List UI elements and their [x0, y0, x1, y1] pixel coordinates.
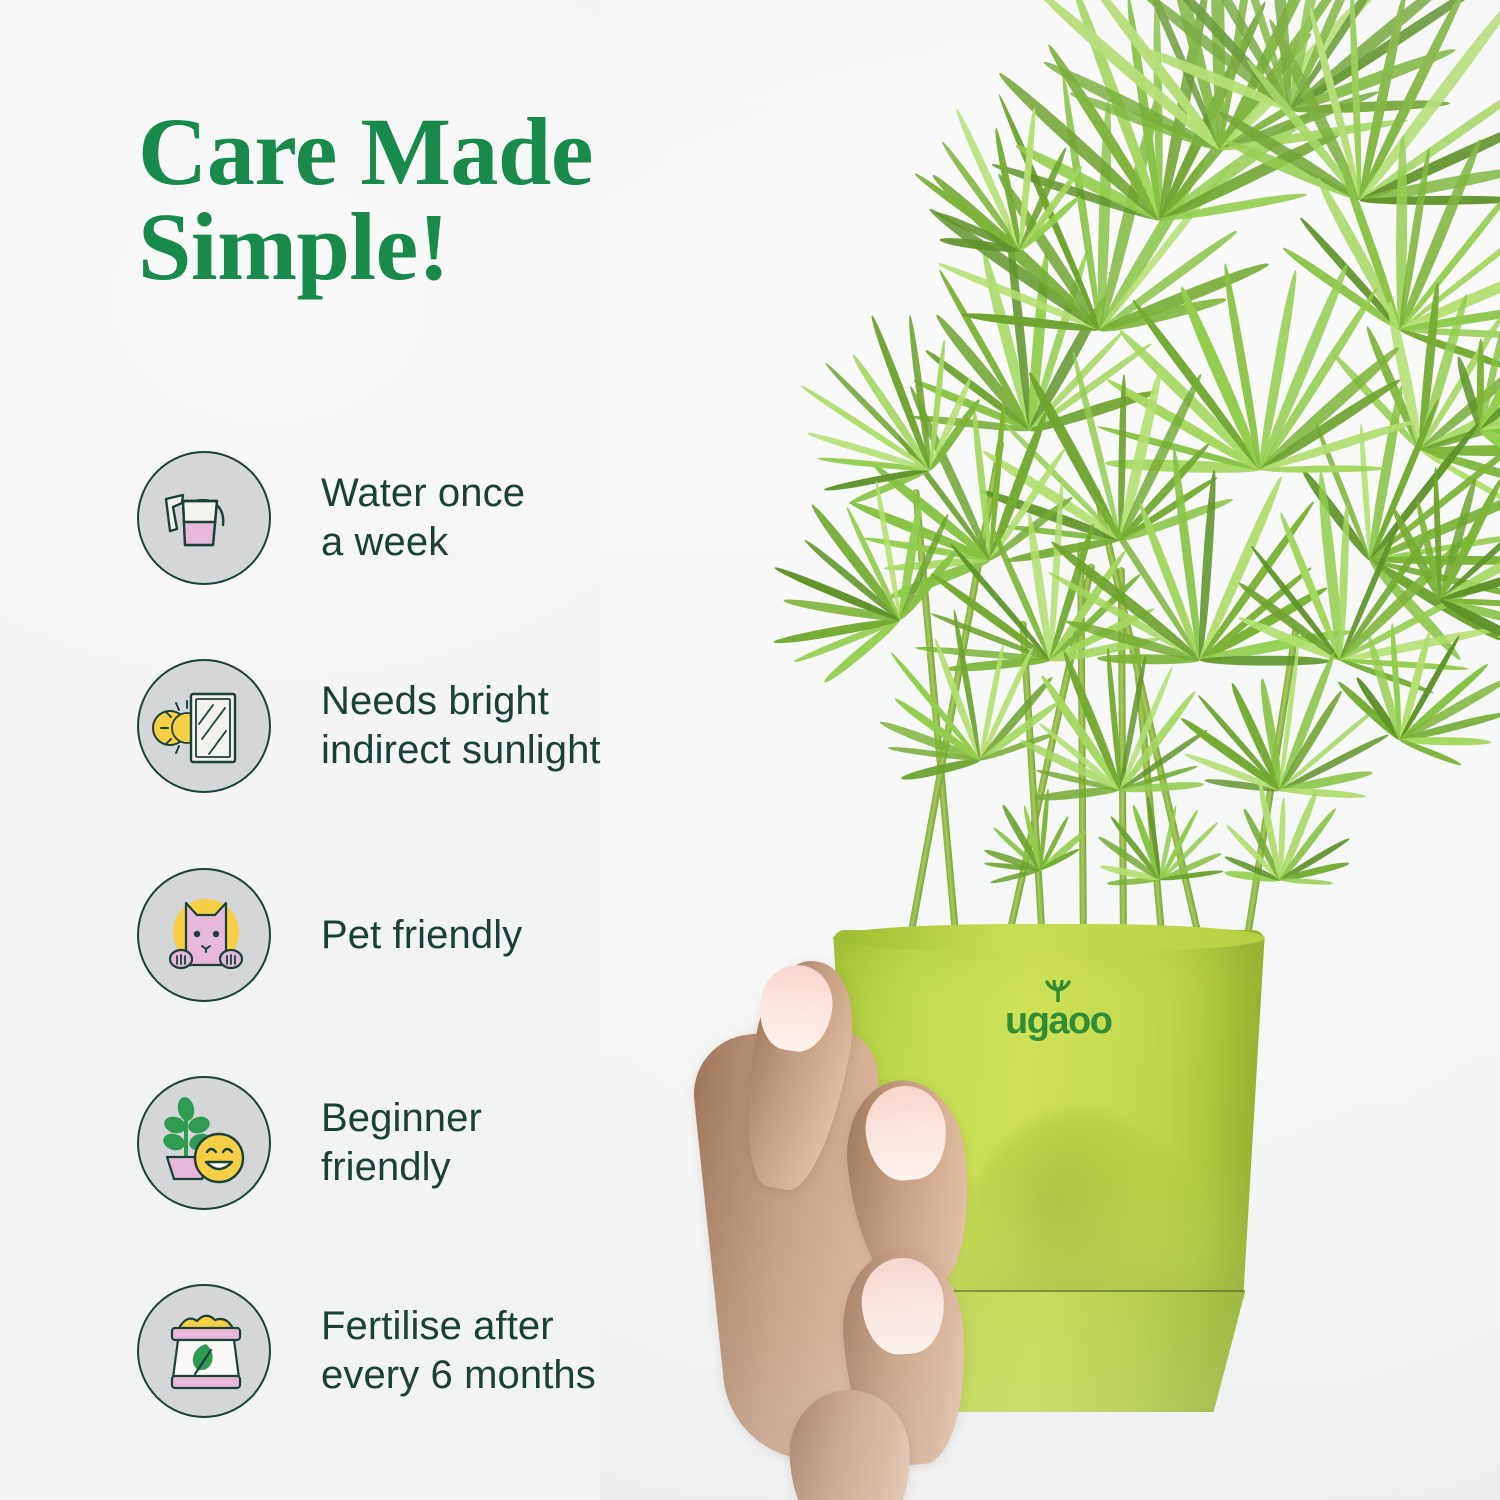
care-item-label: Pet friendly [321, 911, 522, 960]
palm-leaflet [1280, 786, 1367, 800]
palm-leaflet [1360, 195, 1500, 204]
care-item-label: Fertilise after every 6 months [321, 1302, 596, 1400]
care-instructions-list: Water once a week Needs bright indirect … [0, 0, 700, 1500]
care-item-window-sunlight: Needs bright indirect sunlight [137, 659, 601, 793]
care-item-watering-can: Water once a week [137, 451, 525, 585]
product-photo: ugaoo [600, 0, 1500, 1500]
parlor-palm-plant [600, 0, 1500, 1000]
palm-leaflet [1280, 877, 1333, 886]
care-item-cat-pet-friendly: Pet friendly [137, 868, 522, 1002]
watering-can-icon [137, 451, 271, 585]
window-sunlight-icon [137, 659, 271, 793]
potted-plant-smiley-icon [137, 1076, 271, 1210]
care-item-label: Beginner friendly [321, 1094, 482, 1192]
fertiliser-bag-icon [137, 1284, 271, 1418]
care-item-fertiliser-bag: Fertilise after every 6 months [137, 1284, 596, 1418]
palm-leaflet [1200, 655, 1330, 666]
ugaoo-logo-text: ugaoo [1005, 1002, 1111, 1040]
care-item-potted-plant-smiley: Beginner friendly [137, 1076, 482, 1210]
cat-pet-friendly-icon [137, 868, 271, 1002]
care-made-simple-infographic: ugaoo Care Made Simple! Water once a wee… [0, 0, 1500, 1500]
pot-rim [833, 924, 1265, 952]
plant-stem [1240, 626, 1300, 962]
care-item-label: Water once a week [321, 469, 525, 567]
care-item-label: Needs bright indirect sunlight [321, 677, 601, 775]
ugaoo-logo: ugaoo [1005, 980, 1111, 1040]
sprout-icon [1041, 980, 1075, 1002]
